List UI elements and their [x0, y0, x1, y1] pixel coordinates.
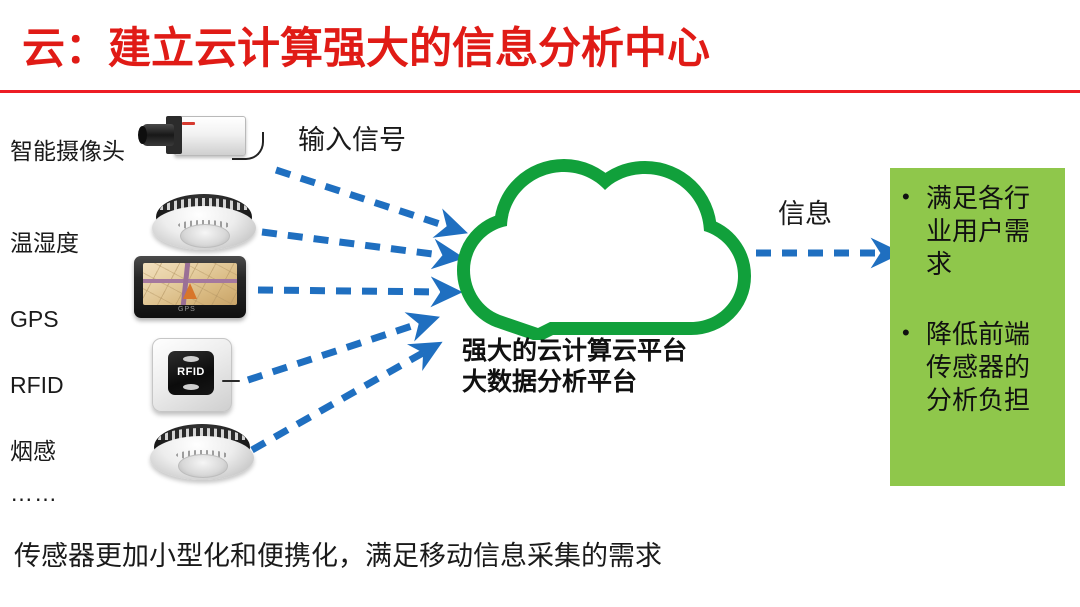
sensor-label-gps: GPS — [10, 308, 59, 331]
sensor-label-smoke: 烟感 — [10, 440, 56, 463]
benefit-text-1: 满足各行业用户需求 — [926, 182, 1044, 281]
benefit-item-1: • 满足各行业用户需求 — [902, 182, 1044, 281]
footer-note: 传感器更加小型化和便携化，满足移动信息采集的需求 — [14, 534, 662, 573]
cloud-caption: 强大的云计算云平台 大数据分析平台 — [462, 336, 687, 399]
gps-navigator-icon: GPS — [134, 256, 246, 318]
benefits-box: • 满足各行业用户需求 • 降低前端传感器的分析负担 — [890, 168, 1065, 486]
arrow-camera-to-cloud — [276, 170, 452, 228]
rfid-device-label: RFID — [168, 366, 214, 378]
benefit-text-2: 降低前端传感器的分析负担 — [926, 318, 1044, 417]
cloud-caption-line-1: 强大的云计算云平台 — [462, 336, 687, 367]
arrow-temp-to-cloud — [262, 232, 448, 256]
smoke-detector-icon — [148, 422, 258, 486]
arrow-rfid-to-cloud — [248, 322, 424, 380]
cloud-caption-line-2: 大数据分析平台 — [462, 367, 687, 398]
arrow-gps-to-cloud — [258, 290, 446, 292]
slide-canvas: 云：建立云计算强大的信息分析中心 智能摄像头 温湿度 GPS RFID 烟感 …… — [0, 0, 1080, 607]
box-camera-icon — [136, 108, 276, 180]
rfid-reader-icon: RFID — [152, 338, 242, 410]
ceiling-sensor-icon — [150, 192, 260, 256]
cloud-platform-graphic — [440, 140, 760, 340]
gps-brand-text: GPS — [178, 306, 196, 313]
sensor-label-ellipsis: …… — [10, 480, 58, 507]
information-label: 信息 — [778, 192, 832, 231]
arrow-smoke-to-cloud — [252, 350, 428, 450]
page-title: 云：建立云计算强大的信息分析中心 — [22, 26, 710, 73]
title-divider — [0, 90, 1080, 93]
input-signal-label: 输入信号 — [298, 118, 406, 157]
bullet-icon: • — [902, 182, 914, 212]
benefit-item-2: • 降低前端传感器的分析负担 — [902, 318, 1044, 417]
bullet-icon: • — [902, 318, 914, 348]
sensor-label-rfid: RFID — [10, 374, 64, 397]
sensor-label-camera: 智能摄像头 — [10, 140, 125, 163]
sensor-label-temp-humidity: 温湿度 — [10, 232, 79, 255]
